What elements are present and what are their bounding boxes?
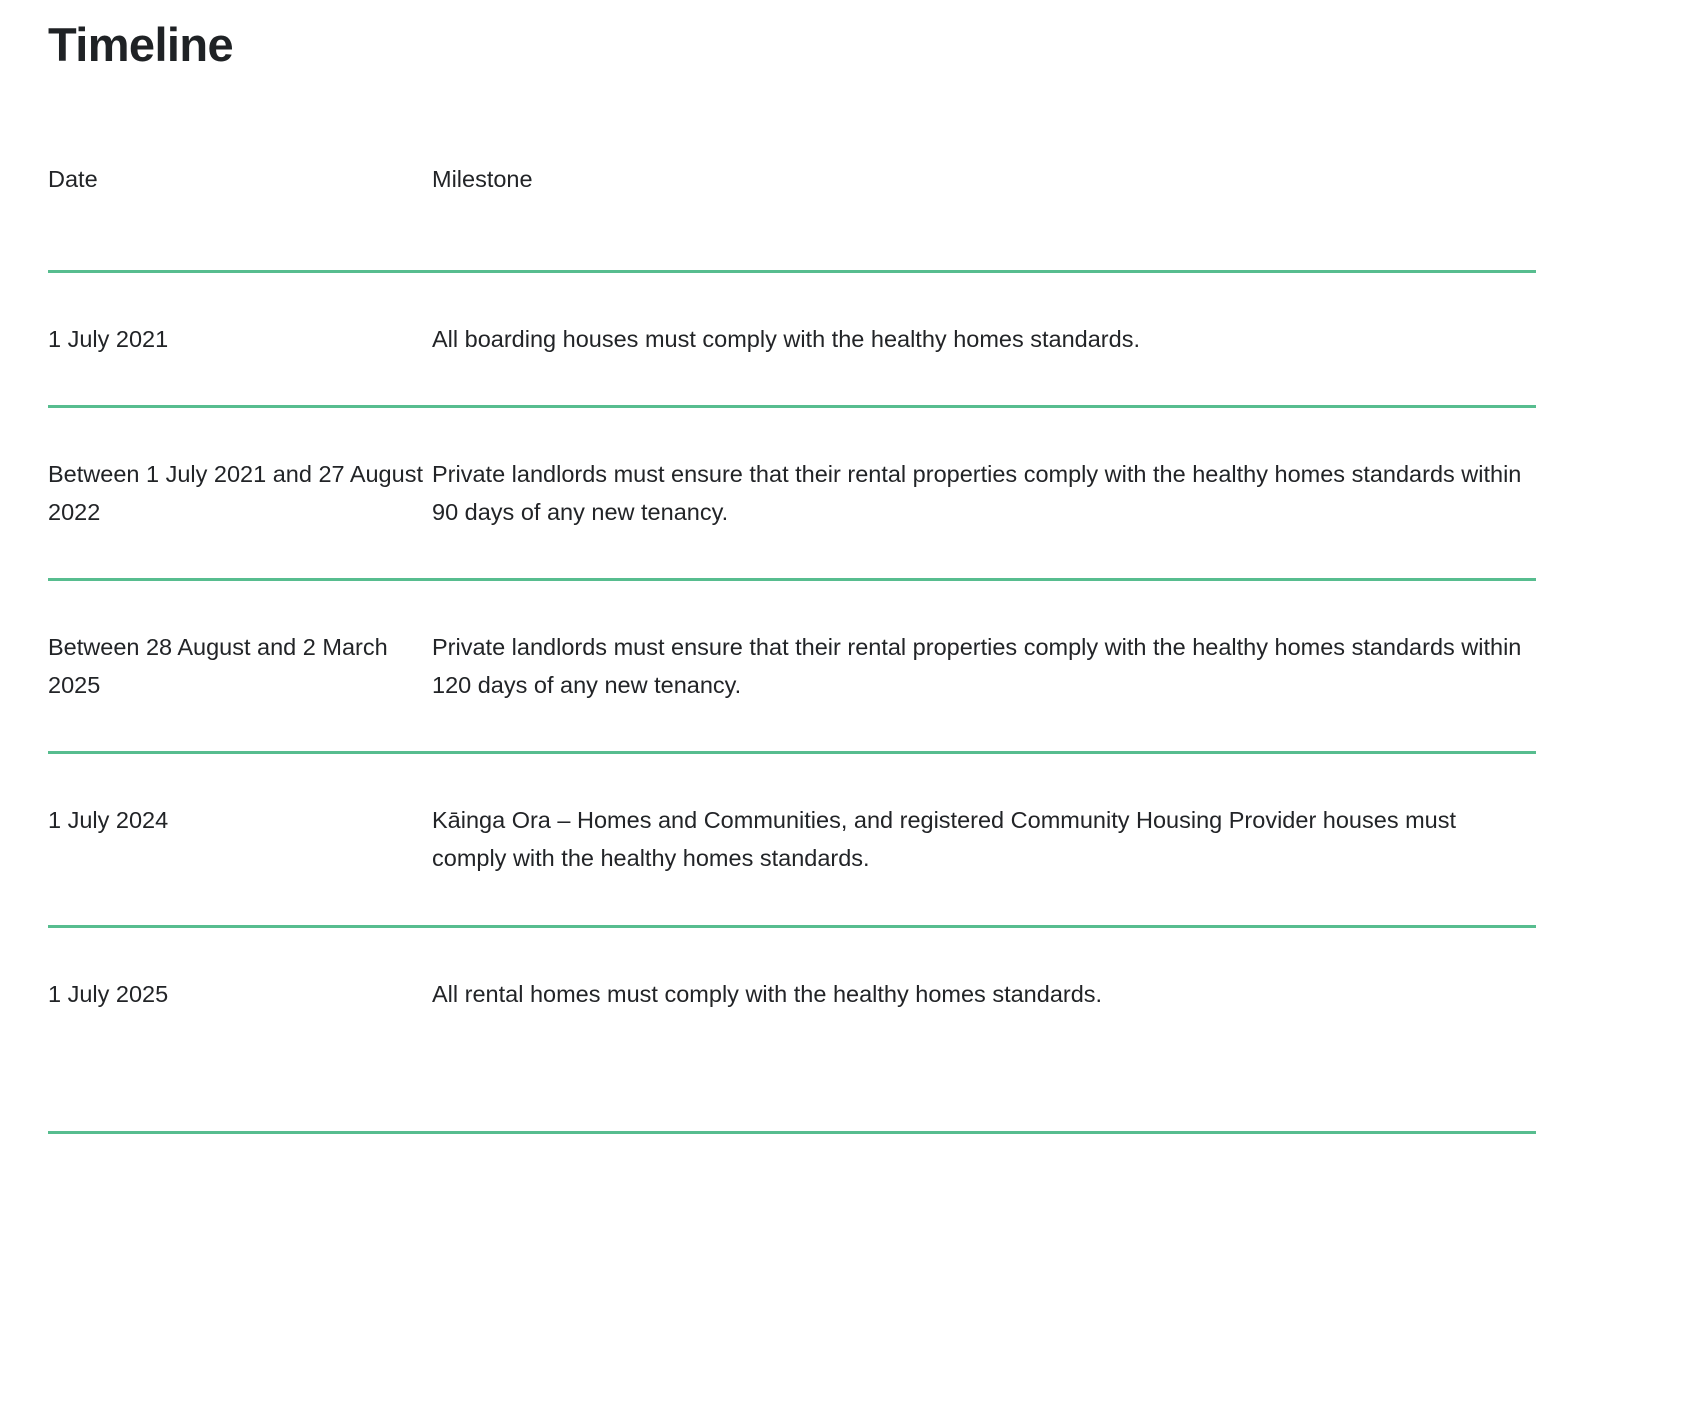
cell-date: 1 July 2024 — [48, 753, 432, 926]
table-body: 1 July 2021 All boarding houses must com… — [48, 272, 1536, 1133]
column-header-milestone: Milestone — [432, 160, 1536, 272]
cell-date: Between 28 August and 2 March 2025 — [48, 580, 432, 753]
cell-milestone: Kāinga Ora – Homes and Communities, and … — [432, 753, 1536, 926]
cell-milestone: All rental homes must comply with the he… — [432, 926, 1536, 1132]
cell-milestone: Private landlords must ensure that their… — [432, 407, 1536, 580]
table-row: 1 July 2024 Kāinga Ora – Homes and Commu… — [48, 753, 1536, 926]
cell-milestone: All boarding houses must comply with the… — [432, 272, 1536, 407]
page-title: Timeline — [48, 18, 233, 72]
table-header-row: Date Milestone — [48, 160, 1536, 272]
timeline-page: Timeline Date Milestone 1 July 2021 All … — [0, 0, 1696, 1404]
table-header: Date Milestone — [48, 160, 1536, 272]
cell-date: Between 1 July 2021 and 27 August 2022 — [48, 407, 432, 580]
table-row: 1 July 2025 All rental homes must comply… — [48, 926, 1536, 1132]
cell-date: 1 July 2021 — [48, 272, 432, 407]
column-header-date: Date — [48, 160, 432, 272]
cell-date: 1 July 2025 — [48, 926, 432, 1132]
cell-milestone: Private landlords must ensure that their… — [432, 580, 1536, 753]
timeline-table: Date Milestone 1 July 2021 All boarding … — [48, 160, 1536, 1134]
table-row: Between 1 July 2021 and 27 August 2022 P… — [48, 407, 1536, 580]
table-row: 1 July 2021 All boarding houses must com… — [48, 272, 1536, 407]
table-row: Between 28 August and 2 March 2025 Priva… — [48, 580, 1536, 753]
